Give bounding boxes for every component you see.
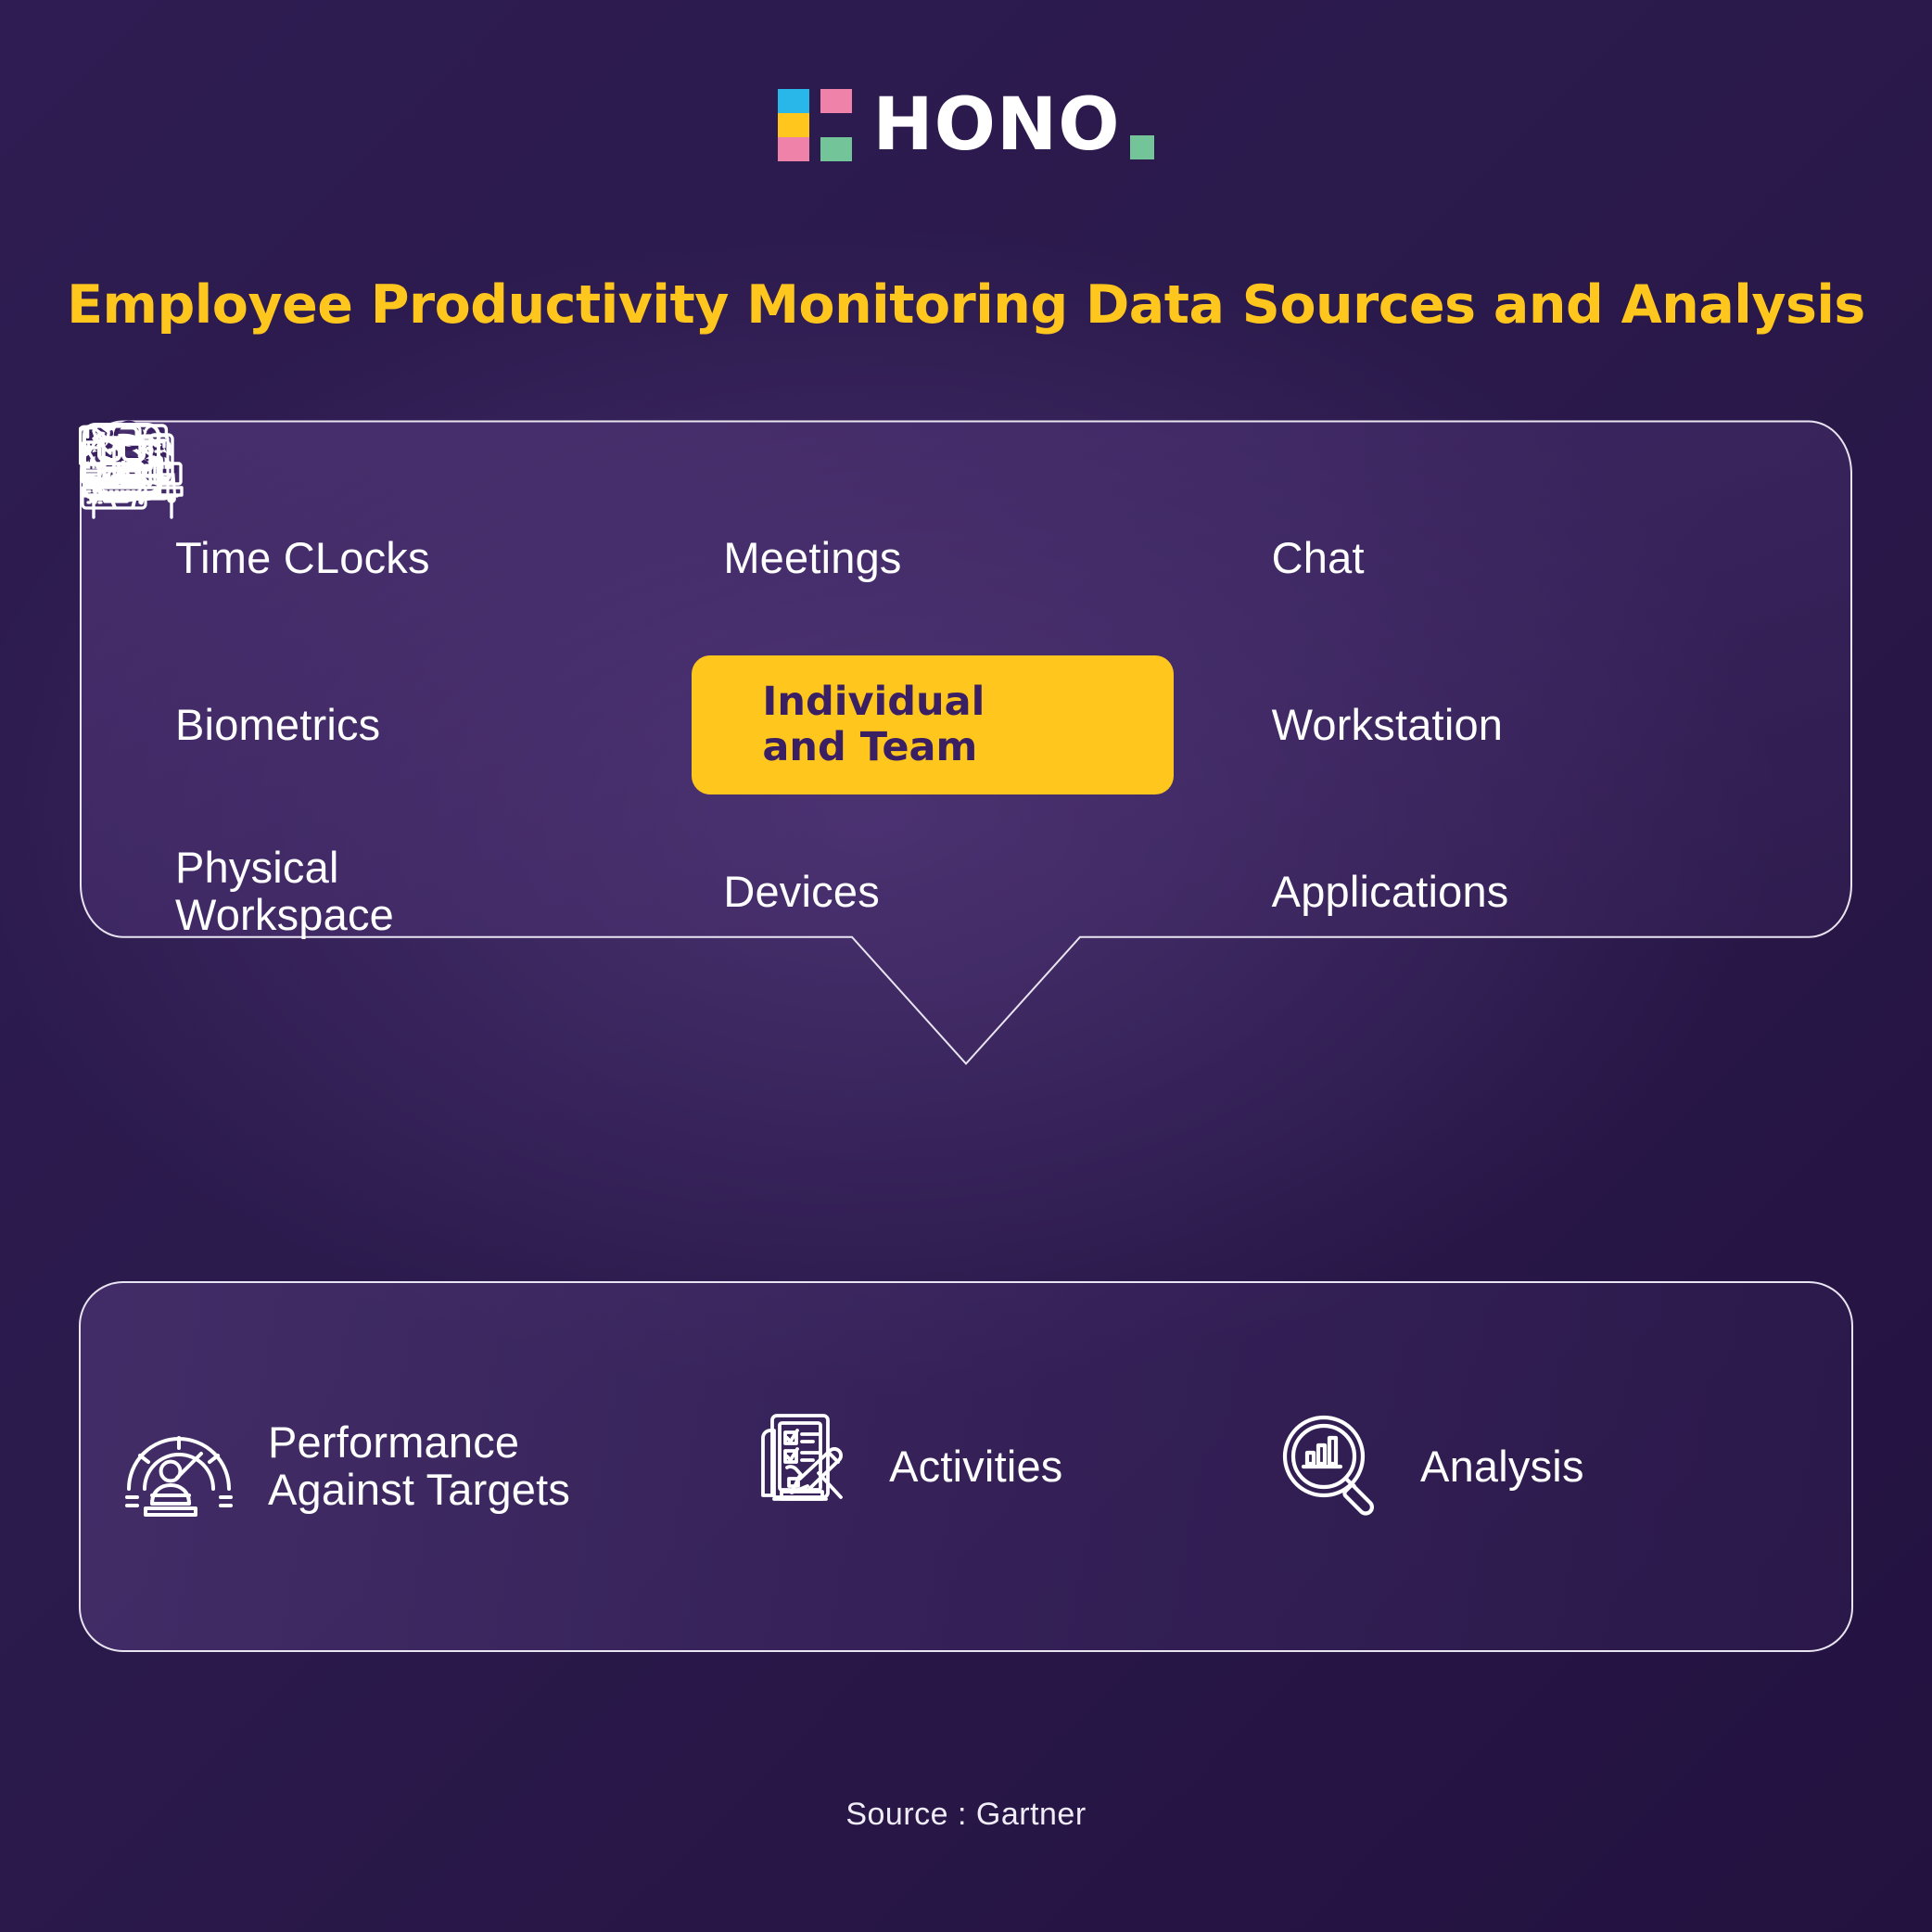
grid-cell: Physical Workspace bbox=[144, 808, 692, 975]
source-item-label: Physical Workspace bbox=[175, 845, 394, 939]
data-sources-card: Time CLocks bbox=[79, 419, 1853, 1124]
source-note: Source : Gartner bbox=[0, 1797, 1932, 1833]
source-item-meetings[interactable]: Meetings bbox=[692, 535, 901, 582]
source-item-label: Time CLocks bbox=[175, 535, 430, 582]
source-item-devices[interactable]: Devices bbox=[692, 869, 880, 916]
grid-cell: Meetings bbox=[692, 475, 1239, 642]
grid-cell: Biometrics bbox=[144, 642, 692, 808]
source-item-individual-and-team[interactable]: Individual and Team bbox=[692, 655, 1174, 794]
label-line-2: Workspace bbox=[175, 890, 394, 939]
logo-square-pink-top bbox=[820, 89, 852, 113]
brand-name: HONO bbox=[872, 89, 1120, 161]
analysis-item-activities[interactable]: Activities bbox=[748, 1412, 1279, 1521]
source-item-chat[interactable]: Chat bbox=[1240, 535, 1365, 582]
magnifier-chart-icon bbox=[1279, 1412, 1389, 1521]
source-item-label: Biometrics bbox=[175, 702, 380, 749]
label-line-2: Against Targets bbox=[268, 1465, 570, 1514]
source-item-workstation[interactable]: Workstation bbox=[1240, 702, 1503, 749]
source-item-label: Applications bbox=[1272, 869, 1509, 916]
hono-logo-mark bbox=[778, 89, 852, 161]
analysis-item-label: Performance Against Targets bbox=[268, 1419, 570, 1514]
logo-square-cyan bbox=[778, 89, 809, 113]
source-item-label: Meetings bbox=[723, 535, 901, 582]
logo-dot-icon bbox=[1130, 135, 1154, 159]
checklist-pen-icon bbox=[748, 1412, 858, 1521]
gauge-person-icon bbox=[121, 1415, 236, 1519]
label-line-1: Individual bbox=[762, 679, 985, 725]
page-title: Employee Productivity Monitoring Data So… bbox=[0, 274, 1932, 336]
grid-cell: Chat bbox=[1240, 475, 1788, 642]
label-line-1: Performance bbox=[268, 1417, 519, 1467]
brand-logo: HONO bbox=[0, 89, 1932, 161]
source-item-label: Individual and Team bbox=[762, 680, 985, 770]
source-item-physical-workspace[interactable]: Physical Workspace bbox=[144, 845, 394, 939]
source-item-time-clocks[interactable]: Time CLocks bbox=[144, 535, 430, 582]
analysis-item-label: Analysis bbox=[1420, 1443, 1584, 1491]
analysis-item-label: Activities bbox=[889, 1443, 1062, 1491]
source-item-label: Workstation bbox=[1272, 702, 1503, 749]
analysis-item-performance-against-targets[interactable]: Performance Against Targets bbox=[121, 1415, 748, 1519]
label-line-1: Physical bbox=[175, 843, 339, 892]
grid-cell: Devices bbox=[692, 808, 1239, 975]
grid-cell: Applications bbox=[1240, 808, 1788, 975]
logo-square-pink-bottom bbox=[778, 137, 809, 161]
analysis-item-analysis[interactable]: Analysis bbox=[1279, 1412, 1811, 1521]
data-sources-grid: Time CLocks bbox=[144, 475, 1788, 975]
source-item-label: Chat bbox=[1272, 535, 1365, 582]
label-line-2: and Team bbox=[762, 724, 977, 770]
source-item-applications[interactable]: Applications bbox=[1240, 869, 1509, 916]
grid-cell: Time CLocks bbox=[144, 475, 692, 642]
logo-gap-3 bbox=[820, 113, 852, 137]
grid-cell: Individual and Team bbox=[692, 642, 1239, 808]
analysis-card: Performance Against Targets bbox=[79, 1281, 1853, 1652]
logo-square-yellow bbox=[778, 113, 809, 137]
logo-square-green bbox=[820, 137, 852, 161]
infographic-root: HONO Employee Productivity Monitoring Da… bbox=[0, 0, 1932, 1932]
source-item-biometrics[interactable]: Biometrics bbox=[144, 702, 380, 749]
source-item-label: Devices bbox=[723, 869, 880, 916]
grid-cell: Workstation bbox=[1240, 642, 1788, 808]
